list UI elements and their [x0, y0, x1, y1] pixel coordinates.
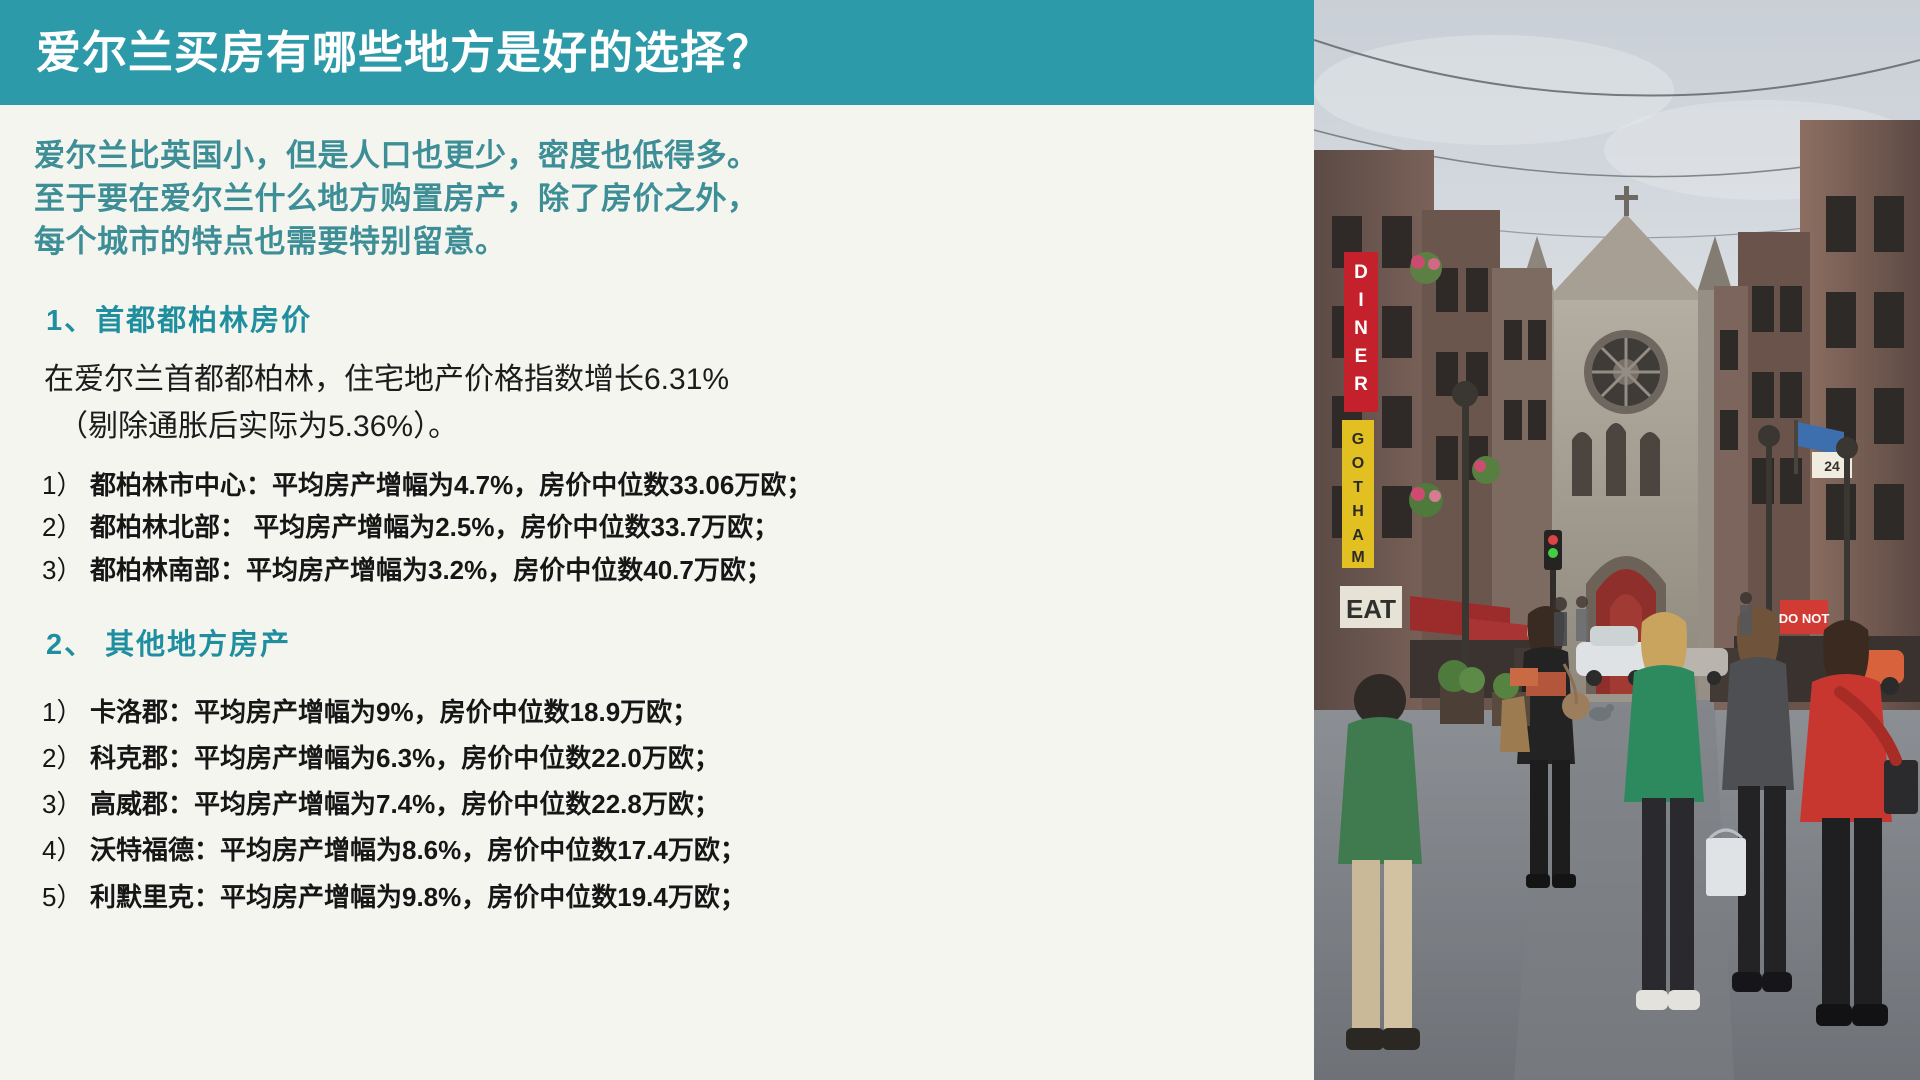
svg-text:N: N	[1354, 318, 1368, 339]
svg-text:24: 24	[1824, 458, 1840, 474]
svg-text:R: R	[1354, 374, 1368, 395]
svg-text:M: M	[1351, 549, 1364, 566]
list-item-text: 都柏林北部： 平均房产增幅为2.5%，房价中位数33.7万欧；	[90, 506, 779, 548]
list-item-index: 1）	[42, 464, 90, 506]
intro-line-3: 每个城市的特点也需要特别留意。	[34, 221, 1314, 264]
street-scene-illustration: DIN ER GOT HAM EAT	[1314, 0, 1920, 1080]
list-item: 2） 都柏林北部： 平均房产增幅为2.5%，房价中位数33.7万欧；	[42, 506, 1314, 548]
svg-text:G: G	[1352, 431, 1364, 448]
page-title: 爱尔兰买房有哪些地方是好的选择？	[36, 30, 772, 75]
list-item-text: 沃特福德：平均房产增幅为8.6%，房价中位数17.4万欧；	[90, 827, 746, 873]
section-2-heading: 2、 其他地方房产	[34, 621, 1314, 663]
svg-text:I: I	[1358, 290, 1363, 311]
list-item-index: 3）	[42, 549, 90, 591]
svg-text:O: O	[1352, 455, 1364, 472]
section-1-paragraph-line-1: 在爱尔兰首都都柏林，住宅地产价格指数增长6.31%	[44, 357, 1314, 404]
svg-text:A: A	[1352, 527, 1364, 544]
svg-text:D: D	[1354, 262, 1368, 283]
list-item-index: 3）	[42, 781, 90, 827]
content-column: 爱尔兰买房有哪些地方是好的选择？ 爱尔兰比英国小，但是人口也更少，密度也低得多。…	[0, 0, 1314, 1080]
header-bar: 爱尔兰买房有哪些地方是好的选择？	[0, 0, 1314, 105]
list-item-index: 2）	[42, 735, 90, 781]
list-item-index: 2）	[42, 506, 90, 548]
svg-text:T: T	[1353, 479, 1363, 496]
list-item-index: 1）	[42, 689, 90, 735]
intro-paragraph: 爱尔兰比英国小，但是人口也更少，密度也低得多。 至于要在爱尔兰什么地方购置房产，…	[34, 135, 1314, 263]
list-item: 3） 高威郡：平均房产增幅为7.4%，房价中位数22.8万欧；	[42, 781, 1314, 827]
svg-text:EAT: EAT	[1346, 594, 1396, 624]
svg-text:E: E	[1355, 346, 1368, 367]
list-item-text: 高威郡：平均房产增幅为7.4%，房价中位数22.8万欧；	[90, 781, 720, 827]
list-item-text: 利默里克：平均房产增幅为9.8%，房价中位数19.4万欧；	[90, 874, 746, 920]
list-item-text: 都柏林市中心：平均房产增幅为4.7%，房价中位数33.06万欧；	[90, 464, 812, 506]
list-item: 4） 沃特福德：平均房产增幅为8.6%，房价中位数17.4万欧；	[42, 827, 1314, 873]
section-1-heading: 1、首都都柏林房价	[34, 297, 1314, 339]
list-item: 3） 都柏林南部：平均房产增幅为3.2%，房价中位数40.7万欧；	[42, 549, 1314, 591]
list-item: 5） 利默里克：平均房产增幅为9.8%，房价中位数19.4万欧；	[42, 874, 1314, 920]
svg-text:DO NOT: DO NOT	[1779, 611, 1830, 626]
section-1-list: 1） 都柏林市中心：平均房产增幅为4.7%，房价中位数33.06万欧； 2） 都…	[34, 464, 1314, 590]
section-2-list: 1） 卡洛郡：平均房产增幅为9%，房价中位数18.9万欧； 2） 科克郡：平均房…	[34, 689, 1314, 920]
body-content: 爱尔兰比英国小，但是人口也更少，密度也低得多。 至于要在爱尔兰什么地方购置房产，…	[0, 105, 1314, 920]
svg-text:H: H	[1352, 503, 1364, 520]
list-item: 2） 科克郡：平均房产增幅为6.3%，房价中位数22.0万欧；	[42, 735, 1314, 781]
section-1-paragraph: 在爱尔兰首都都柏林，住宅地产价格指数增长6.31% （剔除通胀后实际为5.36%…	[34, 357, 1314, 450]
list-item-text: 科克郡：平均房产增幅为6.3%，房价中位数22.0万欧；	[90, 735, 720, 781]
section-other-regions: 2、 其他地方房产 1） 卡洛郡：平均房产增幅为9%，房价中位数18.9万欧； …	[34, 621, 1314, 920]
list-item: 1） 卡洛郡：平均房产增幅为9%，房价中位数18.9万欧；	[42, 689, 1314, 735]
section-dublin: 1、首都都柏林房价 在爱尔兰首都都柏林，住宅地产价格指数增长6.31% （剔除通…	[34, 297, 1314, 590]
list-item-text: 都柏林南部：平均房产增幅为3.2%，房价中位数40.7万欧；	[90, 549, 772, 591]
list-item: 1） 都柏林市中心：平均房产增幅为4.7%，房价中位数33.06万欧；	[42, 464, 1314, 506]
section-1-paragraph-line-2: （剔除通胀后实际为5.36%）。	[44, 404, 1314, 451]
intro-line-2: 至于要在爱尔兰什么地方购置房产，除了房价之外，	[34, 178, 1314, 221]
infographic-page: 爱尔兰买房有哪些地方是好的选择？ 爱尔兰比英国小，但是人口也更少，密度也低得多。…	[0, 0, 1920, 1080]
list-item-index: 4）	[42, 827, 90, 873]
list-item-text: 卡洛郡：平均房产增幅为9%，房价中位数18.9万欧；	[90, 689, 698, 735]
dublin-street-photo: DIN ER GOT HAM EAT	[1314, 0, 1920, 1080]
list-item-index: 5）	[42, 874, 90, 920]
shopping-bag	[1706, 838, 1746, 896]
intro-line-1: 爱尔兰比英国小，但是人口也更少，密度也低得多。	[34, 135, 1314, 178]
